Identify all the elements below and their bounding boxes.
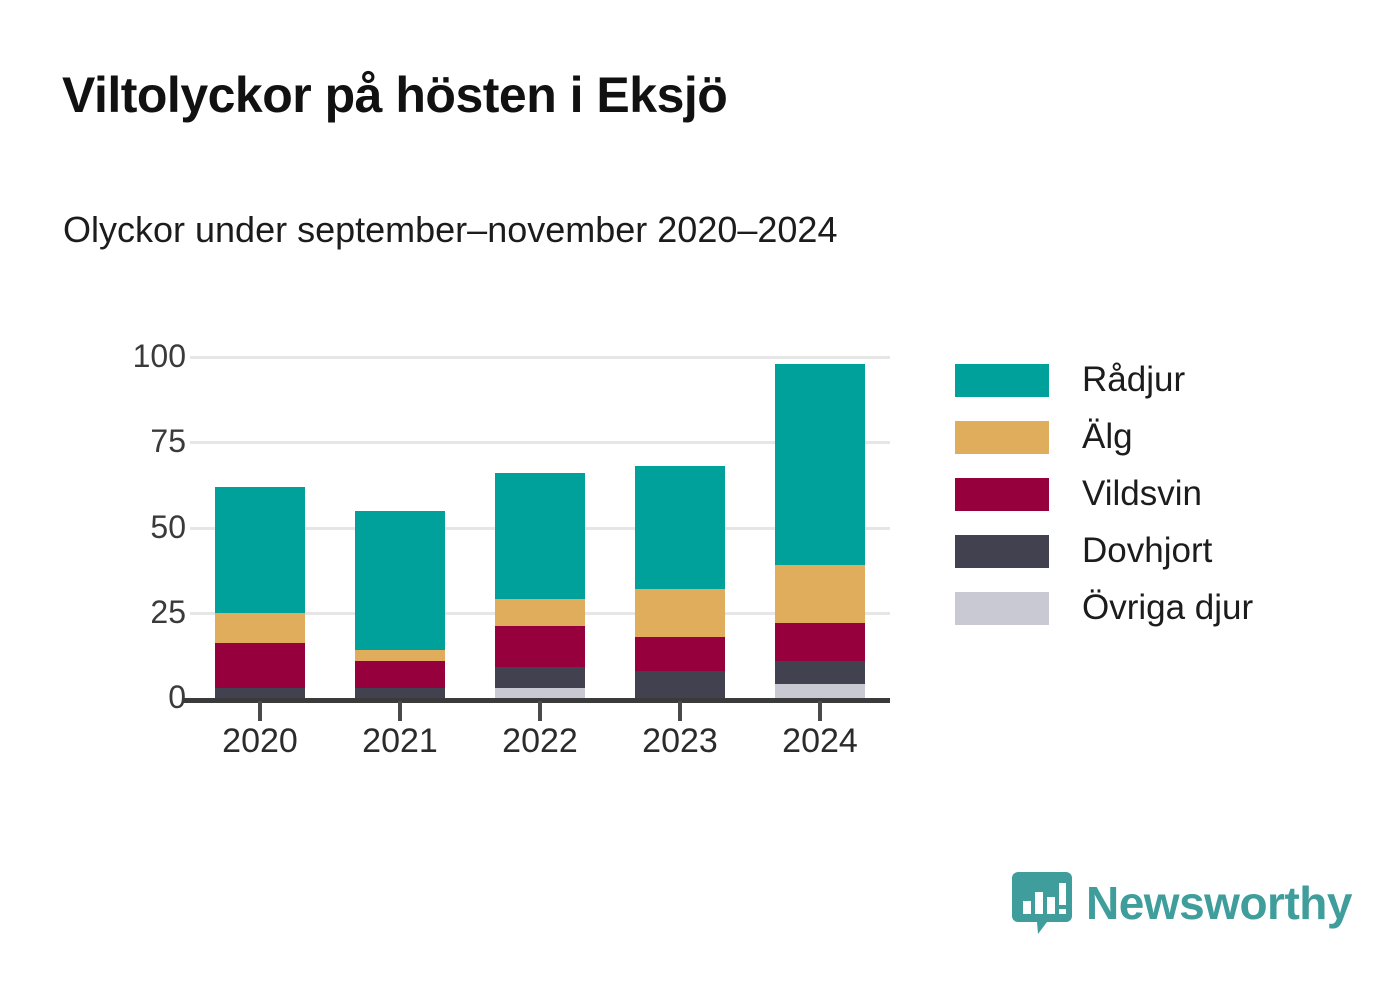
bar-segment-dovhjort[interactable] <box>215 688 305 698</box>
legend-swatch-icon <box>955 421 1049 454</box>
legend-item-älg[interactable]: Älg <box>955 409 1335 465</box>
bar-segment-älg[interactable] <box>355 650 445 660</box>
bar-segment-rådjur[interactable] <box>775 364 865 565</box>
bar-segment-dovhjort[interactable] <box>355 688 445 698</box>
legend-item-rådjur[interactable]: Rådjur <box>955 352 1335 408</box>
legend-swatch-icon <box>955 364 1049 397</box>
stacked-bar-chart: 0255075100 20202021202220232024 <box>90 330 910 780</box>
legend-swatch-icon <box>955 592 1049 625</box>
y-axis-tick-labels: 0255075100 <box>90 330 186 730</box>
bar-segment-rådjur[interactable] <box>355 511 445 651</box>
bar-segment-rådjur[interactable] <box>635 466 725 589</box>
x-axis-tick <box>678 701 682 721</box>
legend-swatch-icon <box>955 478 1049 511</box>
x-axis-label-2021: 2021 <box>320 722 480 761</box>
x-axis-tick <box>398 701 402 721</box>
legend-label: Vildsvin <box>1082 474 1202 514</box>
y-axis-tick-label: 0 <box>96 681 186 713</box>
legend-item-övriga-djur[interactable]: Övriga djur <box>955 580 1335 636</box>
bar-2021[interactable] <box>355 511 445 699</box>
bar-segment-vildsvin[interactable] <box>775 623 865 661</box>
x-axis-tick <box>258 701 262 721</box>
x-axis-label-2023: 2023 <box>600 722 760 761</box>
legend-label: Dovhjort <box>1082 531 1212 571</box>
x-axis-tick <box>538 701 542 721</box>
bar-segment-vildsvin[interactable] <box>215 643 305 687</box>
legend-label: Rådjur <box>1082 360 1185 400</box>
bar-segment-övriga-djur[interactable] <box>495 688 585 698</box>
legend-label: Älg <box>1082 417 1133 457</box>
bar-segment-dovhjort[interactable] <box>635 671 725 698</box>
bar-segment-rådjur[interactable] <box>215 487 305 613</box>
bar-segment-vildsvin[interactable] <box>495 626 585 667</box>
x-axis-line <box>182 698 890 703</box>
bar-segment-älg[interactable] <box>495 599 585 626</box>
bar-segment-rådjur[interactable] <box>495 473 585 599</box>
bar-segment-dovhjort[interactable] <box>495 667 585 687</box>
y-axis-tick-label: 50 <box>96 511 186 543</box>
newsworthy-logo: Newsworthy <box>1012 872 1352 934</box>
legend-label: Övriga djur <box>1082 588 1253 628</box>
bar-segment-övriga-djur[interactable] <box>775 684 865 698</box>
bar-segment-vildsvin[interactable] <box>635 637 725 671</box>
gridline <box>190 356 890 359</box>
page-subtitle: Olyckor under september–november 2020–20… <box>63 209 837 251</box>
x-axis-label-2020: 2020 <box>180 722 340 761</box>
bar-2022[interactable] <box>495 473 585 698</box>
chart-legend: RådjurÄlgVildsvinDovhjortÖvriga djur <box>955 352 1335 637</box>
x-axis-label-2024: 2024 <box>740 722 900 761</box>
legend-item-dovhjort[interactable]: Dovhjort <box>955 523 1335 579</box>
speech-bubble-bar-chart-icon <box>1012 872 1072 934</box>
legend-swatch-icon <box>955 535 1049 568</box>
bar-segment-vildsvin[interactable] <box>355 661 445 688</box>
bar-2023[interactable] <box>635 466 725 698</box>
bar-2024[interactable] <box>775 364 865 698</box>
bar-2020[interactable] <box>215 487 305 698</box>
bar-segment-dovhjort[interactable] <box>775 661 865 685</box>
legend-item-vildsvin[interactable]: Vildsvin <box>955 466 1335 522</box>
plot-area: 20202021202220232024 <box>190 330 890 730</box>
bar-segment-älg[interactable] <box>775 565 865 623</box>
bar-segment-älg[interactable] <box>635 589 725 637</box>
chart-page: Viltolyckor på hösten i Eksjö Olyckor un… <box>0 0 1382 999</box>
y-axis-tick-label: 75 <box>96 425 186 457</box>
newsworthy-wordmark: Newsworthy <box>1086 876 1352 930</box>
page-title: Viltolyckor på hösten i Eksjö <box>62 66 727 124</box>
y-axis-tick-label: 25 <box>96 596 186 628</box>
y-axis-tick-label: 100 <box>96 340 186 372</box>
bar-segment-älg[interactable] <box>215 613 305 644</box>
x-axis-tick <box>818 701 822 721</box>
x-axis-label-2022: 2022 <box>460 722 620 761</box>
